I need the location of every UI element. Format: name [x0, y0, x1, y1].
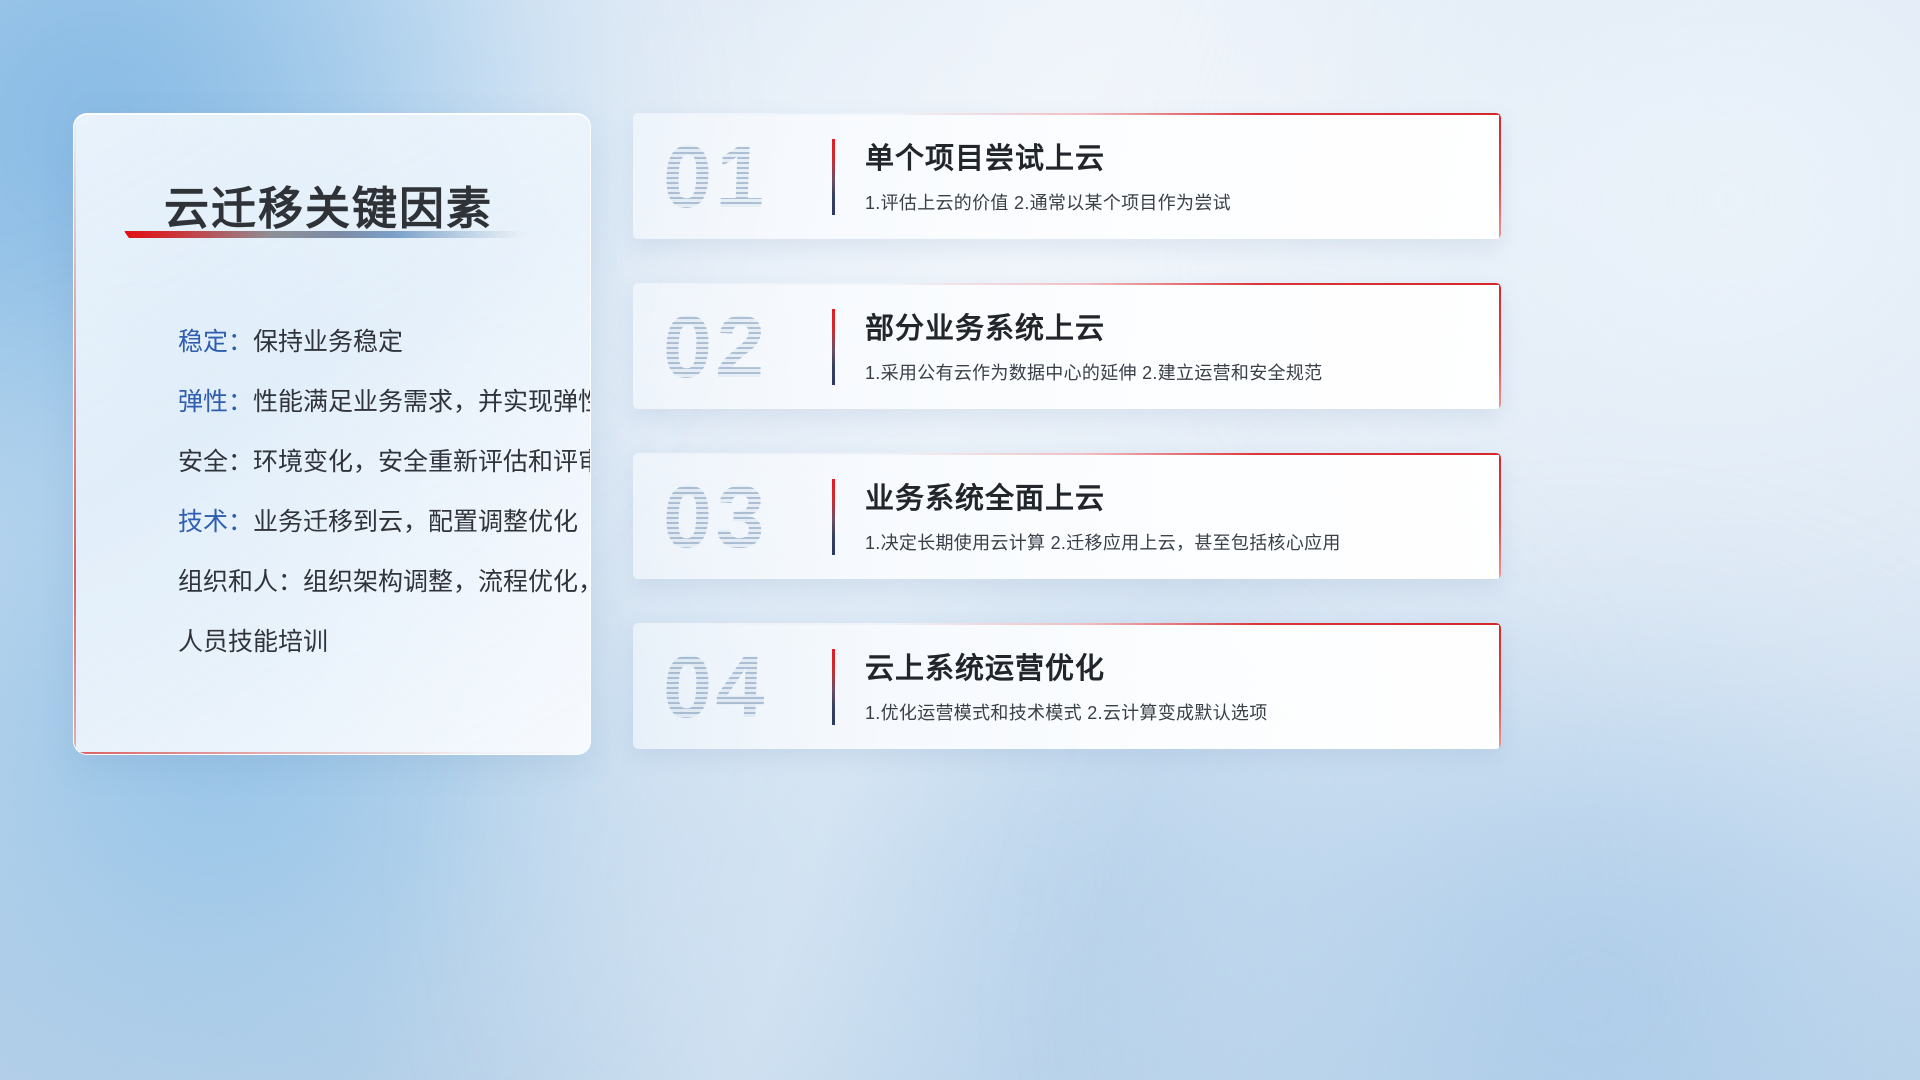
list-item-label: 组织和人：	[178, 568, 303, 596]
page-title: 云迁移关键因素	[164, 172, 493, 237]
slide-stage: 云迁移关键因素 稳定：保持业务稳定弹性：性能满足业务需求，并实现弹性安全：环境变…	[0, 0, 1920, 1080]
list-item: 安全：环境变化，安全重新评估和评审	[106, 432, 570, 492]
key-factors-card: 云迁移关键因素 稳定：保持业务稳定弹性：性能满足业务需求，并实现弹性安全：环境变…	[73, 113, 591, 755]
list-item-text: 保持业务稳定	[253, 328, 403, 356]
stage-panel-inner: 0101单个项目尝试上云1.评估上云的价值 2.通常以某个项目作为尝试	[633, 113, 1501, 239]
stage-panel-inner: 0202部分业务系统上云1.采用公有云作为数据中心的延伸 2.建立运营和安全规范	[633, 283, 1501, 409]
list-item-label: 技术：	[178, 508, 253, 536]
list-item-text: 组织架构调整，流程优化，	[303, 568, 591, 596]
stage-panel[interactable]: 0303业务系统全面上云1.决定长期使用云计算 2.迁移应用上云，甚至包括核心应…	[633, 453, 1501, 579]
list-item-label: 弹性：	[178, 388, 253, 416]
stage-subtitle: 1.优化运营模式和技术模式 2.云计算变成默认选项	[865, 699, 1268, 725]
list-item-text: 环境变化，安全重新评估和评审	[253, 448, 591, 476]
stage-divider	[832, 309, 835, 385]
stage-number: 04	[661, 637, 770, 737]
stage-title: 单个项目尝试上云	[865, 135, 1105, 177]
stage-panel[interactable]: 0404云上系统运营优化1.优化运营模式和技术模式 2.云计算变成默认选项	[633, 623, 1501, 749]
stage-number: 01	[661, 127, 770, 227]
list-item-text: 人员技能培训	[178, 628, 328, 656]
stage-divider	[832, 649, 835, 725]
stage-panel-inner: 0303业务系统全面上云1.决定长期使用云计算 2.迁移应用上云，甚至包括核心应…	[633, 453, 1501, 579]
list-item: 人员技能培训	[106, 612, 570, 672]
title-underline-rule	[124, 231, 534, 238]
stage-panel[interactable]: 0202部分业务系统上云1.采用公有云作为数据中心的延伸 2.建立运营和安全规范	[633, 283, 1501, 409]
list-item: 技术：业务迁移到云，配置调整优化	[106, 492, 570, 552]
list-item-label: 安全：	[178, 448, 253, 476]
stage-subtitle: 1.评估上云的价值 2.通常以某个项目作为尝试	[865, 189, 1231, 215]
stage-panel[interactable]: 0101单个项目尝试上云1.评估上云的价值 2.通常以某个项目作为尝试	[633, 113, 1501, 239]
stage-panel-inner: 0404云上系统运营优化1.优化运营模式和技术模式 2.云计算变成默认选项	[633, 623, 1501, 749]
stage-subtitle: 1.决定长期使用云计算 2.迁移应用上云，甚至包括核心应用	[865, 529, 1341, 555]
list-item-text: 业务迁移到云，配置调整优化	[253, 508, 578, 536]
stage-panels-list: 0101单个项目尝试上云1.评估上云的价值 2.通常以某个项目作为尝试0202部…	[633, 113, 1501, 793]
stage-title: 云上系统运营优化	[865, 645, 1105, 687]
list-item: 组织和人：组织架构调整，流程优化，	[106, 552, 570, 612]
list-item: 弹性：性能满足业务需求，并实现弹性	[106, 372, 570, 432]
stage-title: 业务系统全面上云	[865, 475, 1105, 517]
list-item-label: 稳定：	[178, 328, 253, 356]
stage-title: 部分业务系统上云	[865, 305, 1105, 347]
stage-subtitle: 1.采用公有云作为数据中心的延伸 2.建立运营和安全规范	[865, 359, 1322, 385]
key-factors-list: 稳定：保持业务稳定弹性：性能满足业务需求，并实现弹性安全：环境变化，安全重新评估…	[106, 312, 570, 672]
stage-number: 03	[661, 467, 770, 567]
list-item-text: 性能满足业务需求，并实现弹性	[253, 388, 591, 416]
stage-divider	[832, 139, 835, 215]
stage-divider	[832, 479, 835, 555]
list-item: 稳定：保持业务稳定	[106, 312, 570, 372]
stage-number: 02	[661, 297, 770, 397]
